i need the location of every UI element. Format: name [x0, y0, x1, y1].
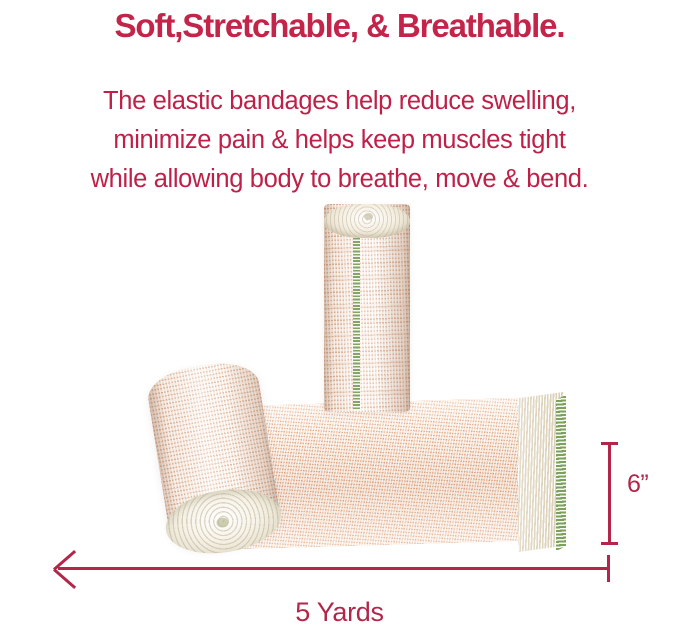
product-infographic: Soft,Stretchable, & Breathable. The elas… [0, 0, 679, 632]
page-title: Soft,Stretchable, & Breathable. [0, 6, 679, 46]
standing-roll-cap-center [364, 213, 373, 220]
arrow-head-lower-barb [53, 568, 76, 589]
unrolled-bandage-strip [240, 397, 552, 549]
width-dimension-shaft [58, 567, 610, 570]
product-image [0, 190, 679, 565]
bandage-strip-shading [240, 397, 552, 549]
description-line-1: The elastic bandages help reduce swellin… [0, 82, 679, 121]
standing-roll-top-cap [324, 204, 410, 238]
standing-roll-green-stripe [353, 230, 360, 410]
height-dimension-shaft [608, 444, 611, 544]
standing-bandage-roll [324, 204, 410, 412]
height-tick-bottom [601, 542, 618, 545]
width-dimension-arrow [52, 552, 612, 586]
width-dimension-label: 5 Yards [0, 597, 679, 628]
description-line-2: minimize pain & helps keep muscles tight [0, 121, 679, 160]
lying-bandage-roll [144, 357, 283, 554]
height-dimension-label: 6” [627, 470, 648, 499]
height-dimension-line [601, 441, 618, 547]
green-serged-edge [556, 395, 566, 551]
width-end-tick [607, 555, 610, 582]
description-paragraph: The elastic bandages help reduce swellin… [0, 82, 679, 199]
standing-roll-cap-texture [324, 204, 410, 238]
